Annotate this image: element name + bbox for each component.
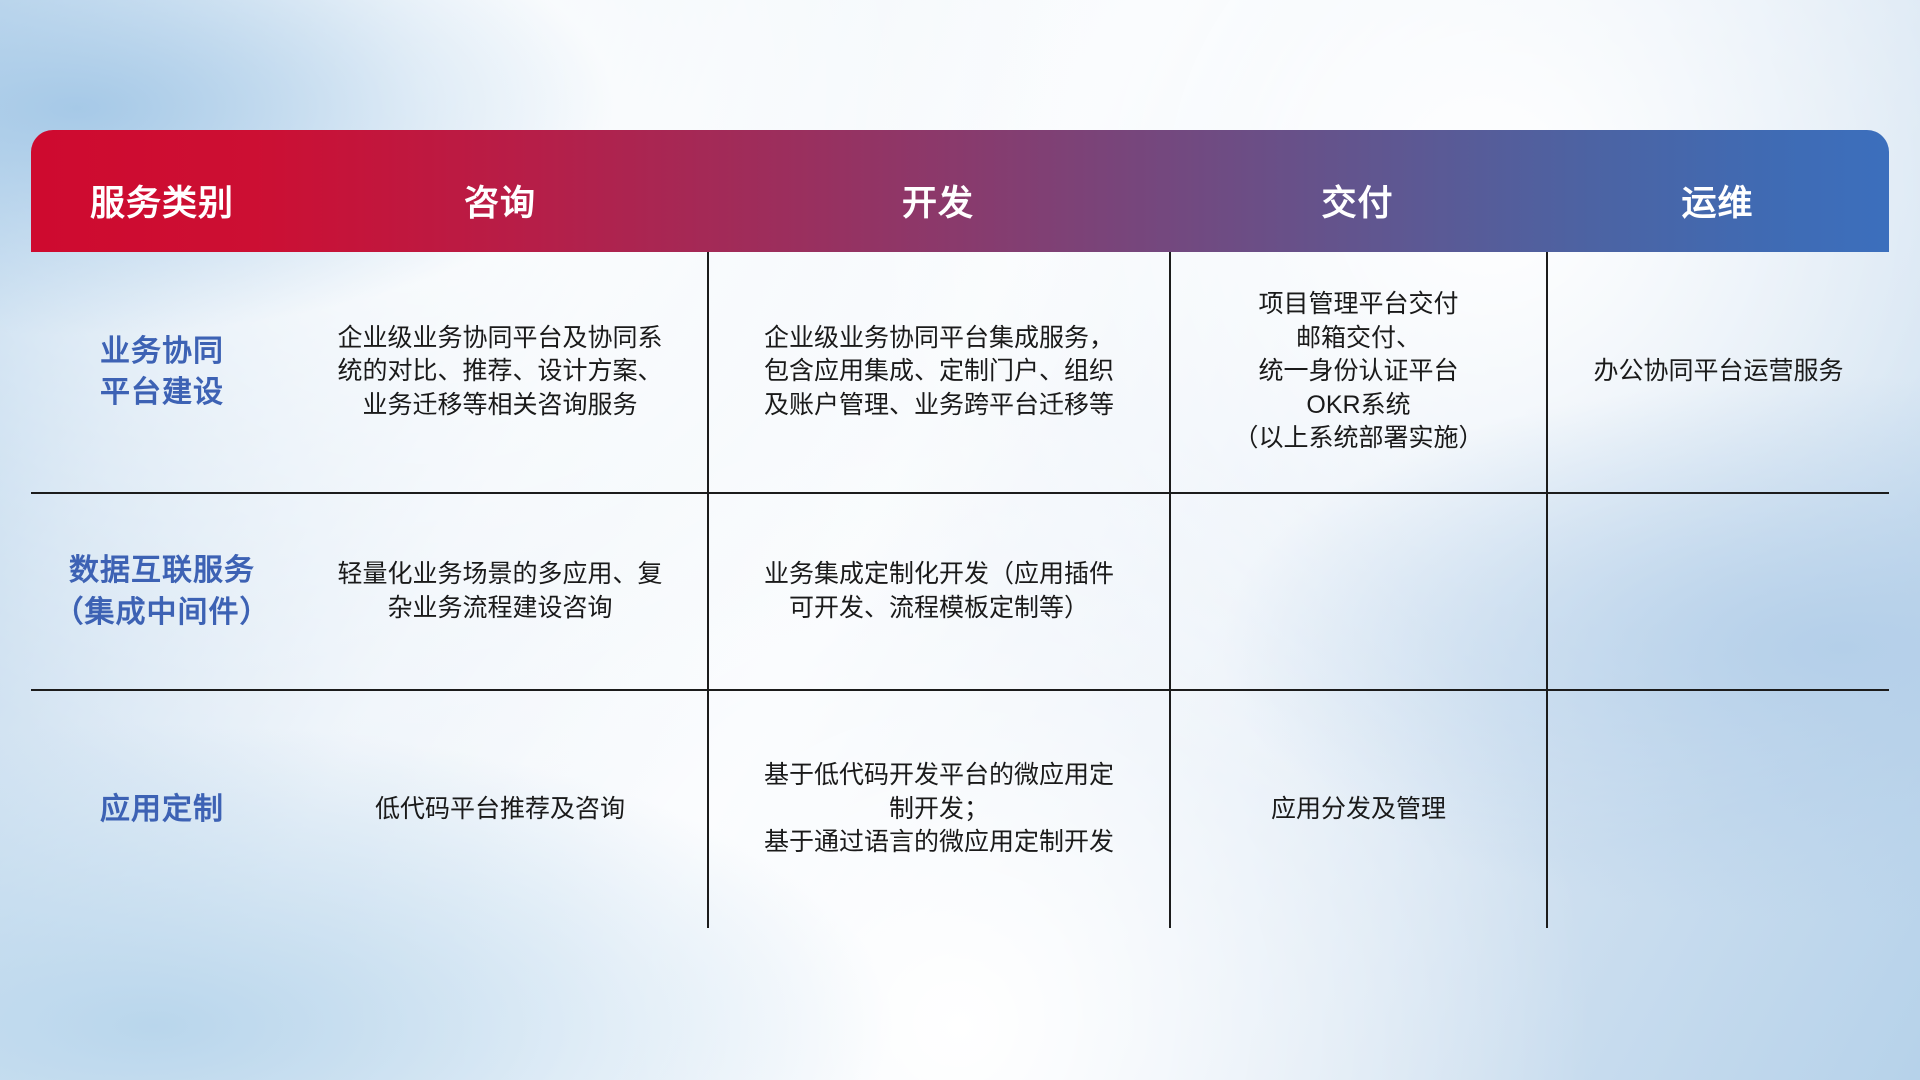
service-matrix-table: 服务类别 咨询 开发 交付 运维 业务协同 平台建设 企业级业务协同平台及协同系… (31, 130, 1889, 928)
column-header-operations: 运维 (1546, 175, 1889, 252)
table-header-row: 服务类别 咨询 开发 交付 运维 (31, 130, 1889, 252)
cell-development: 企业级业务协同平台集成服务， 包含应用集成、定制门户、组织 及账户管理、业务跨平… (707, 252, 1169, 492)
cell-operations (1546, 691, 1889, 928)
row-category-label: 数据互联服务 （集成中间件） (31, 494, 293, 689)
column-header-consulting: 咨询 (293, 175, 707, 252)
cell-development: 业务集成定制化开发（应用插件 可开发、流程模板定制等） (707, 494, 1169, 689)
cell-delivery: 应用分发及管理 (1169, 691, 1546, 928)
table-row: 数据互联服务 （集成中间件） 轻量化业务场景的多应用、复 杂业务流程建设咨询 业… (31, 492, 1889, 689)
column-header-development: 开发 (707, 175, 1169, 252)
row-category-label: 应用定制 (31, 691, 293, 928)
column-header-delivery: 交付 (1169, 175, 1546, 252)
cell-operations: 办公协同平台运营服务 (1546, 252, 1889, 492)
column-header-service-category: 服务类别 (31, 175, 293, 252)
row-category-label: 业务协同 平台建设 (31, 252, 293, 492)
cell-delivery: 项目管理平台交付 邮箱交付、 统一身份认证平台 OKR系统 （以上系统部署实施） (1169, 252, 1546, 492)
cell-consulting: 低代码平台推荐及咨询 (293, 691, 707, 928)
table-row: 应用定制 低代码平台推荐及咨询 基于低代码开发平台的微应用定 制开发； 基于通过… (31, 689, 1889, 928)
cell-consulting: 企业级业务协同平台及协同系 统的对比、推荐、设计方案、 业务迁移等相关咨询服务 (293, 252, 707, 492)
cell-consulting: 轻量化业务场景的多应用、复 杂业务流程建设咨询 (293, 494, 707, 689)
table-body: 业务协同 平台建设 企业级业务协同平台及协同系 统的对比、推荐、设计方案、 业务… (31, 252, 1889, 928)
cell-operations (1546, 494, 1889, 689)
cell-delivery (1169, 494, 1546, 689)
cell-development: 基于低代码开发平台的微应用定 制开发； 基于通过语言的微应用定制开发 (707, 691, 1169, 928)
table-row: 业务协同 平台建设 企业级业务协同平台及协同系 统的对比、推荐、设计方案、 业务… (31, 252, 1889, 492)
